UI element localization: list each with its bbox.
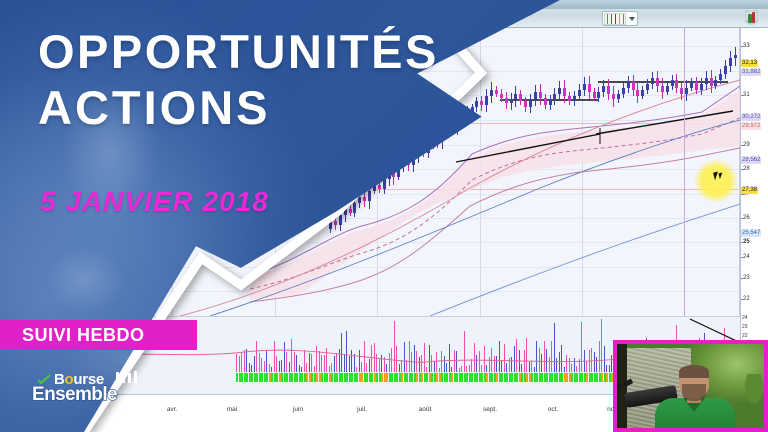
mouse-pointer-icon xyxy=(713,172,720,181)
candle-body xyxy=(529,100,532,108)
candle-body xyxy=(636,90,639,96)
candle-body xyxy=(627,82,630,88)
candle-body xyxy=(734,55,737,58)
candle-body xyxy=(578,90,581,96)
candle-body xyxy=(339,215,342,225)
screenshot-canvas: 3331292827262524232232,1331,88230,27229,… xyxy=(0,0,768,432)
webcam-foliage xyxy=(743,374,765,408)
ribbon-label: SUIVI HEBDO xyxy=(22,325,145,346)
brand-logo: Bourse Ensemble xyxy=(32,370,144,412)
candle-body xyxy=(539,92,542,98)
candle-body xyxy=(573,96,576,102)
candle-body xyxy=(602,86,605,92)
candle-body xyxy=(597,92,600,98)
webcam-inset[interactable] xyxy=(613,340,768,432)
candle-body xyxy=(685,88,688,94)
candle-body xyxy=(588,84,591,92)
candle-body xyxy=(714,80,717,86)
candle-body xyxy=(661,86,664,92)
candle-body xyxy=(514,94,517,100)
candle-body xyxy=(378,185,381,189)
candle-body xyxy=(329,221,332,229)
candle-body xyxy=(544,98,547,106)
candle-body xyxy=(553,94,556,100)
title-line-1: OPPORTUNITÉS xyxy=(38,24,508,80)
candle-body xyxy=(671,80,674,86)
candle-body xyxy=(363,197,366,201)
candle-body xyxy=(666,86,669,92)
crosshair-vertical-line xyxy=(684,28,685,316)
price-tick-label: 22 xyxy=(743,296,750,302)
candle-body xyxy=(710,78,713,86)
candle-body xyxy=(612,94,615,100)
price-value-badge: 31,882 xyxy=(741,69,761,76)
check-icon xyxy=(37,374,51,384)
candle-body xyxy=(519,94,522,102)
presenter-hair xyxy=(679,365,709,378)
date-tick-label: avr. xyxy=(167,406,177,413)
candle-body xyxy=(719,74,722,80)
indicator-picker-button[interactable] xyxy=(602,11,638,26)
date-tick-label: juil. xyxy=(357,406,367,413)
candle-body xyxy=(568,96,571,102)
candle-body xyxy=(641,90,644,96)
candle-body xyxy=(524,101,527,107)
candle-body xyxy=(617,94,620,100)
price-value-badge: 28,562 xyxy=(741,157,761,164)
price-tick-label: 25 xyxy=(743,239,750,245)
date-tick-label: oct. xyxy=(548,406,558,413)
candle-body xyxy=(680,88,683,94)
candle-body xyxy=(700,84,703,90)
candle-body xyxy=(353,203,356,213)
candle-body xyxy=(344,209,347,215)
candle-body xyxy=(534,92,537,100)
candle-body xyxy=(622,88,625,94)
price-value-badge: 32,13 xyxy=(741,60,758,67)
date-tick-label: sept. xyxy=(483,406,497,413)
candle-body xyxy=(510,100,513,104)
title-line-2: ACTIONS xyxy=(38,80,508,136)
chart-indicator-icon xyxy=(604,13,626,25)
candle-body xyxy=(724,66,727,74)
price-tick-label: 22 xyxy=(742,333,748,339)
candle-body xyxy=(607,86,610,94)
candle-body xyxy=(646,84,649,90)
chevron-down-icon[interactable] xyxy=(629,17,635,21)
candle-body xyxy=(729,58,732,66)
candle-body xyxy=(651,78,654,84)
candle-body xyxy=(558,88,561,94)
price-value-badge: 25,547 xyxy=(741,230,761,237)
logo-word-ensemble: Ensemble xyxy=(32,384,117,406)
chart-toolbar-right-icon[interactable] xyxy=(745,10,758,26)
price-tick-label: 28 xyxy=(743,166,750,172)
price-tick-label: 31 xyxy=(743,92,750,98)
candle-body xyxy=(563,88,566,96)
cursor-highlight-glow xyxy=(694,159,738,203)
candle-body xyxy=(334,221,337,225)
date-tick-label: juin xyxy=(293,406,303,413)
price-tick-label: 24 xyxy=(742,315,748,321)
price-tick-label: 24 xyxy=(743,254,750,260)
candle-body xyxy=(656,78,659,86)
price-tick-label: 23 xyxy=(743,275,750,281)
subtitle-date: 5 JANVIER 2018 xyxy=(40,186,269,218)
price-tick-label: 29 xyxy=(743,142,750,148)
candle-body xyxy=(705,78,708,84)
price-value-badge: 29,972 xyxy=(741,123,761,130)
candle-body xyxy=(593,92,596,98)
price-value-badge: 30,272 xyxy=(741,114,761,121)
price-tick-label: 23 xyxy=(742,324,748,330)
candlestick-bars-icon xyxy=(115,370,143,384)
presenter-beard xyxy=(682,384,706,401)
candle-body xyxy=(358,197,361,203)
candle-body xyxy=(583,84,586,90)
status-badge-ribbon: SUIVI HEBDO xyxy=(0,320,197,350)
candle-body xyxy=(690,82,693,88)
price-tick-label: 26 xyxy=(743,215,750,221)
candle-body xyxy=(632,82,635,90)
candle-body xyxy=(695,82,698,90)
price-value-badge: 27,38 xyxy=(741,187,758,194)
candle-body xyxy=(349,209,352,213)
page-title: OPPORTUNITÉS ACTIONS xyxy=(38,24,508,136)
price-tick-label: 33 xyxy=(743,43,750,49)
candle-body xyxy=(368,191,371,201)
candle-body xyxy=(549,100,552,106)
candle-body xyxy=(675,80,678,88)
date-tick-label: mai xyxy=(227,406,237,413)
price-axis[interactable]: 3331292827262524232232,1331,88230,27229,… xyxy=(740,28,768,316)
date-tick-label: août xyxy=(419,406,432,413)
